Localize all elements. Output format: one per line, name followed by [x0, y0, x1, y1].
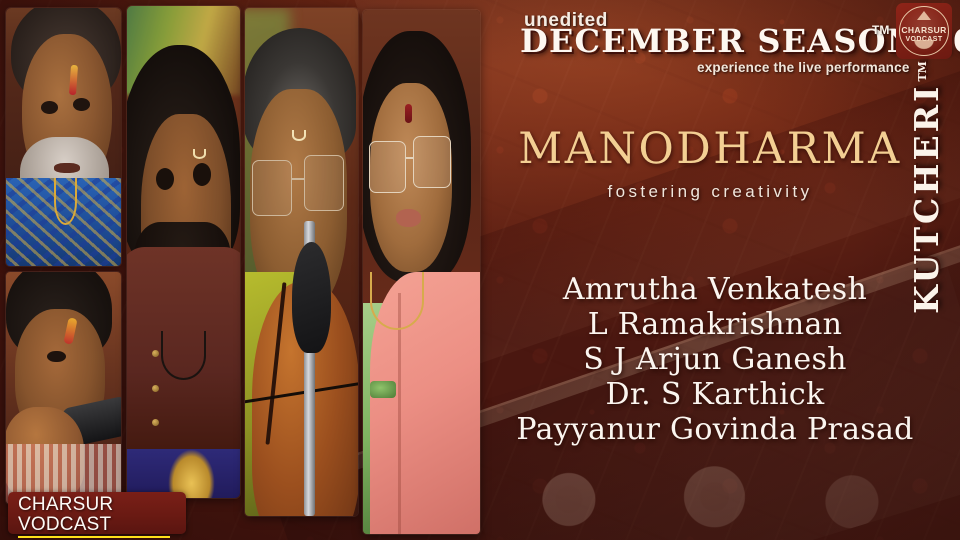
charsur-vodcast-banner[interactable]: CHARSUR VODCAST pristine carnatic music — [8, 492, 186, 534]
concert-subtitle: fostering creativity — [500, 182, 920, 202]
header-tagline: experience the live performance — [697, 60, 910, 75]
portrait-wind-instrumentalist — [6, 272, 121, 504]
photo-panel-elder-vocalist — [6, 8, 121, 266]
season-title-wrap: DECEMBER SEASON 2023 — [520, 25, 910, 57]
lips — [396, 209, 422, 227]
saree-brooch — [370, 381, 396, 398]
artist-name: S J Arjun Ganesh — [493, 342, 937, 377]
mouth — [54, 163, 79, 173]
charsur-badge[interactable]: CHARSUR VODCAST — [896, 3, 952, 59]
photo-panel-violinist — [245, 8, 358, 516]
vodcast-brand: CHARSUR VODCAST — [18, 495, 186, 535]
spectacles-bridge — [406, 157, 414, 159]
gopuram-icon — [917, 11, 931, 20]
portrait-lead-vocalist — [363, 10, 480, 534]
photo-panel-bearded-artist — [127, 6, 240, 498]
artist-name: Dr. S Karthick — [493, 377, 937, 412]
photo-panel-lead-vocalist — [363, 10, 480, 534]
portrait-bearded-artist — [127, 6, 240, 498]
spectacles-right-lens — [304, 155, 345, 211]
season-title: DECEMBER SEASON 2023 — [520, 25, 910, 57]
lotus-icon — [912, 40, 936, 51]
microphone-icon — [292, 242, 330, 354]
portrait-violinist — [245, 8, 358, 516]
badge-brand-line1: CHARSUR — [901, 25, 946, 35]
artist-name-list: Amrutha Venkatesh L Ramakrishnan S J Arj… — [493, 272, 937, 447]
spectacles-left-lens — [252, 160, 293, 216]
eye-right — [73, 98, 90, 111]
concert-title: MANODHARMA — [500, 128, 920, 171]
artist-name: Amrutha Venkatesh — [493, 272, 937, 307]
season-trademark: TM — [872, 23, 889, 37]
spectacles-left-lens — [369, 141, 406, 193]
gold-ornament — [168, 449, 215, 498]
bindi-mark — [405, 104, 412, 123]
spectacles-bridge — [292, 178, 303, 180]
poster-canvas: unedited DECEMBER SEASON 2023 TM experie… — [0, 0, 960, 540]
spectacles-right-lens — [413, 136, 450, 188]
kurta-button — [152, 385, 159, 392]
badge-ring: CHARSUR VODCAST — [899, 6, 949, 56]
portrait-elder-vocalist — [6, 8, 121, 266]
kutcheri-trademark: TM — [916, 61, 929, 81]
tilak-mark — [193, 149, 206, 159]
artist-name: Payyanur Govinda Prasad — [493, 412, 937, 447]
bead-necklace — [161, 331, 206, 380]
artist-name: L Ramakrishnan — [493, 307, 937, 342]
eye-right — [193, 163, 211, 185]
gold-chain — [54, 178, 77, 224]
eye-left — [41, 101, 58, 114]
photo-panel-wind-instrumentalist — [6, 272, 121, 504]
artist-photo-strip — [0, 0, 490, 540]
vodcast-divider — [18, 536, 170, 538]
gold-necklace — [370, 272, 424, 330]
